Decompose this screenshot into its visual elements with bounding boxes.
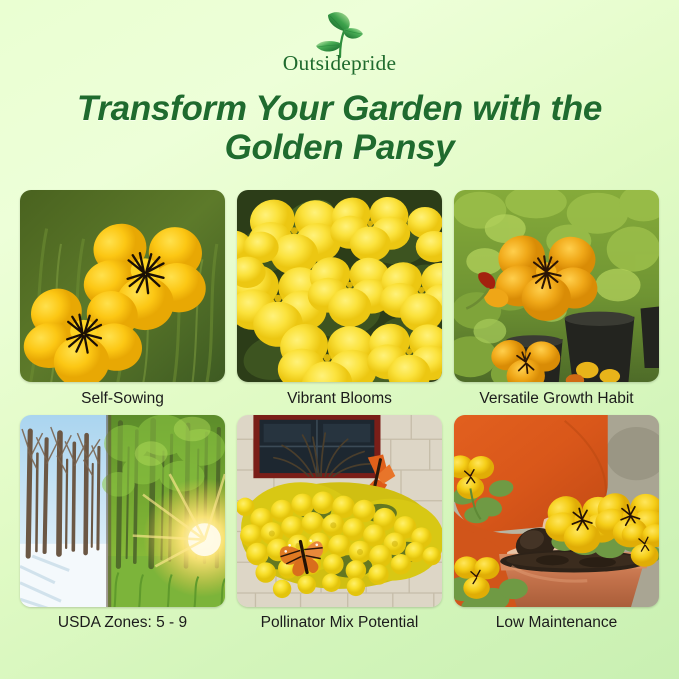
feature-caption: USDA Zones: 5 - 9 [58, 614, 187, 633]
page-title: Transform Your Garden with the Golden Pa… [0, 89, 679, 169]
feature-grid: Self-Sowing [20, 190, 659, 632]
feature-card-low-maintenance: Low Maintenance [454, 415, 659, 633]
brand-wordmark: Outsidepride [283, 53, 396, 75]
page-title-line-2: Golden Pansy [26, 128, 653, 168]
two-yellow-pansy-flowers-photo [20, 190, 225, 382]
feature-card-pollinator-mix: Pollinator Mix Potential [237, 415, 442, 633]
feature-card-self-sowing: Self-Sowing [20, 190, 225, 409]
feature-caption: Pollinator Mix Potential [261, 614, 419, 633]
feature-caption: Versatile Growth Habit [479, 390, 633, 409]
winter-summer-forest-split-photo [20, 415, 225, 607]
pansy-in-nursery-pots-photo [454, 190, 659, 382]
feature-card-usda-zones: USDA Zones: 5 - 9 [20, 415, 225, 633]
mass-yellow-pansy-blooms-photo [237, 190, 442, 382]
feature-caption: Self-Sowing [81, 390, 164, 409]
window-box-pansies-butterflies-photo [237, 415, 442, 607]
feature-caption: Low Maintenance [496, 614, 618, 633]
page-title-line-1: Transform Your Garden with the [26, 89, 653, 129]
feature-card-vibrant-blooms: Vibrant Blooms [237, 190, 442, 409]
brand-logo: Outsidepride [0, 0, 679, 75]
feature-caption: Vibrant Blooms [287, 390, 392, 409]
planting-pansies-in-terracotta-pot-photo [454, 415, 659, 607]
feature-card-versatile-growth-habit: Versatile Growth Habit [454, 190, 659, 409]
